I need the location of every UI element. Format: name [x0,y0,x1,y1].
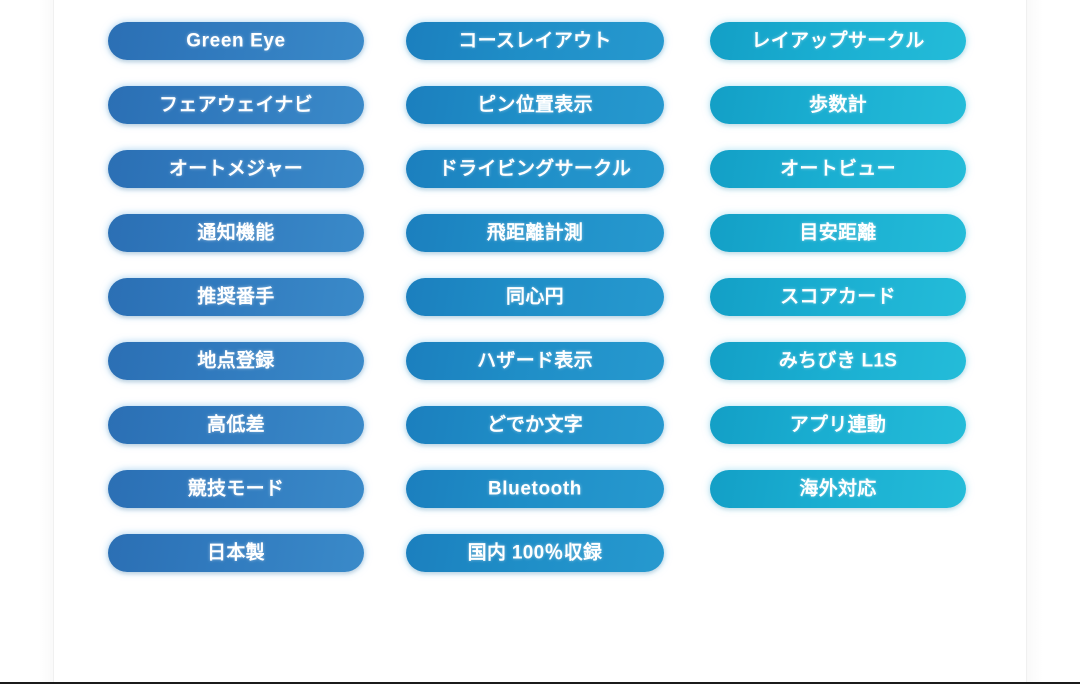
feature-pill[interactable]: 高低差 [108,406,364,444]
feature-pill-label: 同心円 [506,287,564,306]
feature-pill[interactable]: ピン位置表示 [406,86,664,124]
feature-pill-label: 日本製 [207,543,265,562]
feature-pill-label: スコアカード [780,287,896,306]
feature-pill-label: 目安距離 [799,223,876,242]
column-right: レイアップサークル歩数計オートビュー目安距離スコアカードみちびき L1Sアプリ連… [710,22,966,534]
feature-pill[interactable]: コースレイアウト [406,22,664,60]
feature-pill-label: Bluetooth [488,479,582,498]
feature-pill-label: 海外対応 [799,479,876,498]
feature-pill-label: ドライビングサークル [439,159,631,178]
feature-pill-label: コースレイアウト [458,31,611,50]
feature-pill[interactable]: 同心円 [406,278,664,316]
feature-pill[interactable]: スコアカード [710,278,966,316]
feature-pill-label: オートビュー [780,159,896,178]
feature-pill[interactable]: 通知機能 [108,214,364,252]
feature-pill[interactable]: ドライビングサークル [406,150,664,188]
feature-pill[interactable]: ハザード表示 [406,342,664,380]
feature-pill-label: 歩数計 [809,95,867,114]
feature-pill-label: 飛距離計測 [487,223,584,242]
feature-pill[interactable]: Bluetooth [406,470,664,508]
feature-pill[interactable]: みちびき L1S [710,342,966,380]
feature-pill[interactable]: 競技モード [108,470,364,508]
feature-pill-label: 推奨番手 [197,287,274,306]
column-middle: コースレイアウトピン位置表示ドライビングサークル飛距離計測同心円ハザード表示どで… [406,22,664,598]
column-left: Green Eyeフェアウェイナビオートメジャー通知機能推奨番手地点登録高低差競… [108,22,364,598]
feature-pill-label: アプリ連動 [790,415,887,434]
feature-pill[interactable]: 目安距離 [710,214,966,252]
feature-pill[interactable]: オートビュー [710,150,966,188]
feature-pill[interactable]: 飛距離計測 [406,214,664,252]
feature-pill[interactable]: 推奨番手 [108,278,364,316]
feature-pill[interactable]: Green Eye [108,22,364,60]
page-bottom-rule [0,682,1080,684]
feature-pill-label: レイアップサークル [751,31,924,50]
feature-pill[interactable]: 歩数計 [710,86,966,124]
feature-pill-label: Green Eye [186,31,285,50]
feature-pill-label: 競技モード [188,479,285,498]
feature-grid-screen: Green Eyeフェアウェイナビオートメジャー通知機能推奨番手地点登録高低差競… [0,0,1080,686]
feature-pill-label: 地点登録 [197,351,274,370]
feature-pill[interactable]: 日本製 [108,534,364,572]
feature-pill-label: フェアウェイナビ [159,95,313,114]
feature-pill-label: オートメジャー [169,159,303,178]
feature-pill-label: ピン位置表示 [477,95,593,114]
feature-pill-label: みちびき L1S [779,351,898,370]
feature-pill-label: 高低差 [207,415,265,434]
feature-pill[interactable]: どでか文字 [406,406,664,444]
feature-pill-label: 通知機能 [197,223,274,242]
feature-pill[interactable]: レイアップサークル [710,22,966,60]
feature-pill[interactable]: オートメジャー [108,150,364,188]
feature-pill[interactable]: 国内 100％収録 [406,534,664,572]
feature-pill[interactable]: 海外対応 [710,470,966,508]
feature-pill[interactable]: フェアウェイナビ [108,86,364,124]
feature-pill-label: どでか文字 [487,415,583,434]
feature-pill-grid: Green Eyeフェアウェイナビオートメジャー通知機能推奨番手地点登録高低差競… [0,0,1080,640]
feature-pill-label: ハザード表示 [477,351,593,370]
feature-pill[interactable]: アプリ連動 [710,406,966,444]
feature-pill[interactable]: 地点登録 [108,342,364,380]
feature-pill-label: 国内 100％収録 [468,543,603,562]
